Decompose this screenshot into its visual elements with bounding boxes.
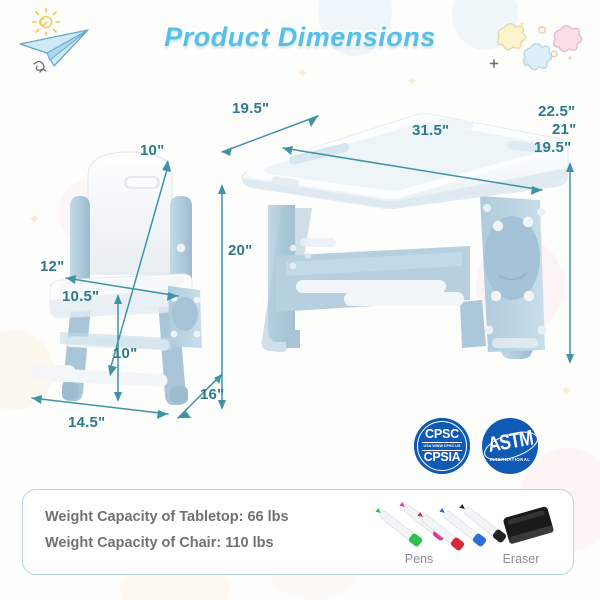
badge-ring <box>417 421 467 471</box>
product-dimensions-infographic: ✦ ✦ ✦ ✦ <box>0 0 600 600</box>
pens-label: Pens <box>379 552 459 566</box>
markers-icon <box>375 500 507 552</box>
astm-international-badge: ASTM INTERNATIONAL <box>482 418 538 474</box>
dimension-table-height-max: 22.5" <box>538 103 575 120</box>
supplies-illustration <box>375 494 571 554</box>
dimension-chair-base-depth: 16" <box>200 386 224 403</box>
dimension-chair-back-height: 10" <box>140 142 164 159</box>
chair-illustration <box>32 152 202 405</box>
capacity-text-block: Weight Capacity of Tabletop: 66 lbs Weig… <box>45 504 289 556</box>
dimension-chair-seat-height: 10" <box>113 345 137 362</box>
chair-capacity: Weight Capacity of Chair: 110 lbs <box>45 530 289 556</box>
dimension-table-depth: 19.5" <box>232 100 269 117</box>
eraser-label: Eraser <box>481 552 561 566</box>
included-supplies: Pens Eraser <box>375 494 571 572</box>
dimension-table-height-mid: 21" <box>552 121 576 138</box>
weight-capacity-panel: Weight Capacity of Tabletop: 66 lbs Weig… <box>22 489 574 575</box>
dimension-chair-seat-depth: 12" <box>40 258 64 275</box>
eraser-icon <box>503 506 555 545</box>
dimension-chair-seat-width: 10.5" <box>62 288 99 305</box>
dimension-table-height-min: 19.5" <box>534 139 571 156</box>
astm-label: ASTM <box>486 426 535 458</box>
dimension-table-leg-height: 20" <box>228 242 252 259</box>
cpsc-cpsia-badge: CPSC USA WWW.CPSC.US CPSIA <box>414 418 470 474</box>
dimension-chair-base-width: 14.5" <box>68 414 105 431</box>
certification-badges: CPSC USA WWW.CPSC.US CPSIA ASTM INTERNAT… <box>414 418 542 478</box>
dimension-table-width: 31.5" <box>412 122 449 139</box>
tabletop-capacity: Weight Capacity of Tabletop: 66 lbs <box>45 504 289 530</box>
